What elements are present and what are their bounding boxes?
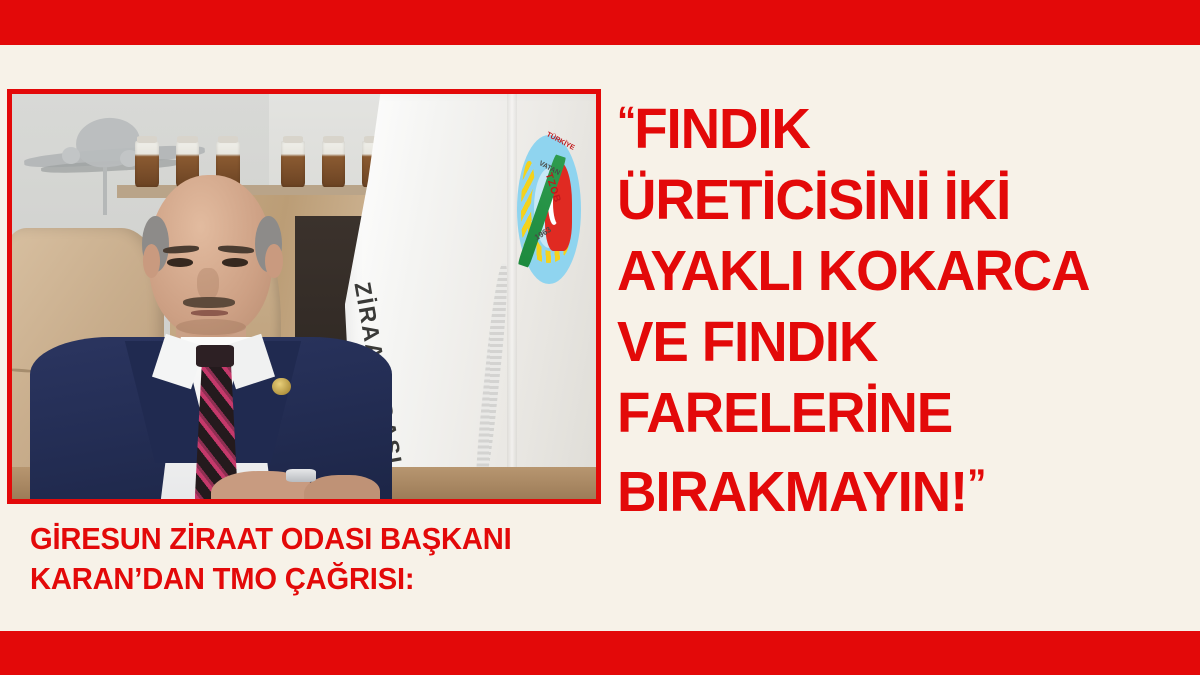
bottom-red-bar <box>0 631 1200 675</box>
chin-shadow <box>176 319 246 335</box>
headline-line-1-text: FINDIK <box>634 97 809 161</box>
caption-line-2: KARAN’DAN TMO ÇAĞRISI: <box>30 559 512 599</box>
eye-right <box>222 258 248 267</box>
headline-line-1: “FINDIK <box>617 86 1169 165</box>
photo-caption: GİRESUN ZİRAAT ODASI BAŞKANI KARAN’DAN T… <box>30 519 512 599</box>
ear-right <box>265 244 283 278</box>
news-headline-graphic: TZOB 1963 TÜRKİYE VATAN ZİRAAT ODASI <box>0 0 1200 675</box>
person-figure <box>12 94 596 499</box>
subject-photo: TZOB 1963 TÜRKİYE VATAN ZİRAAT ODASI <box>12 94 596 499</box>
headline: “FINDIK ÜRETİCİSİNİ İKİ AYAKLI KOKARCA V… <box>617 86 1169 528</box>
photo-frame: TZOB 1963 TÜRKİYE VATAN ZİRAAT ODASI <box>7 89 601 504</box>
headline-line-3: AYAKLI KOKARCA <box>617 236 1169 307</box>
headline-line-5: FARELERİNE <box>617 378 1169 449</box>
headline-line-4: VE FINDIK <box>617 307 1169 378</box>
headline-line-6: BIRAKMAYIN!” <box>617 449 1169 528</box>
nose <box>197 268 219 300</box>
eye-left <box>167 258 193 267</box>
headline-line-6-text: BIRAKMAYIN! <box>617 460 967 524</box>
caption-line-1: GİRESUN ZİRAAT ODASI BAŞKANI <box>30 519 512 559</box>
mouth <box>191 310 228 315</box>
headline-line-2: ÜRETİCİSİNİ İKİ <box>617 165 1169 236</box>
opening-quote: “ <box>617 99 634 143</box>
necktie-knot <box>196 345 234 367</box>
mustache <box>183 297 236 308</box>
top-red-bar <box>0 0 1200 45</box>
closing-quote: ” <box>967 462 984 506</box>
wristwatch <box>286 469 315 483</box>
